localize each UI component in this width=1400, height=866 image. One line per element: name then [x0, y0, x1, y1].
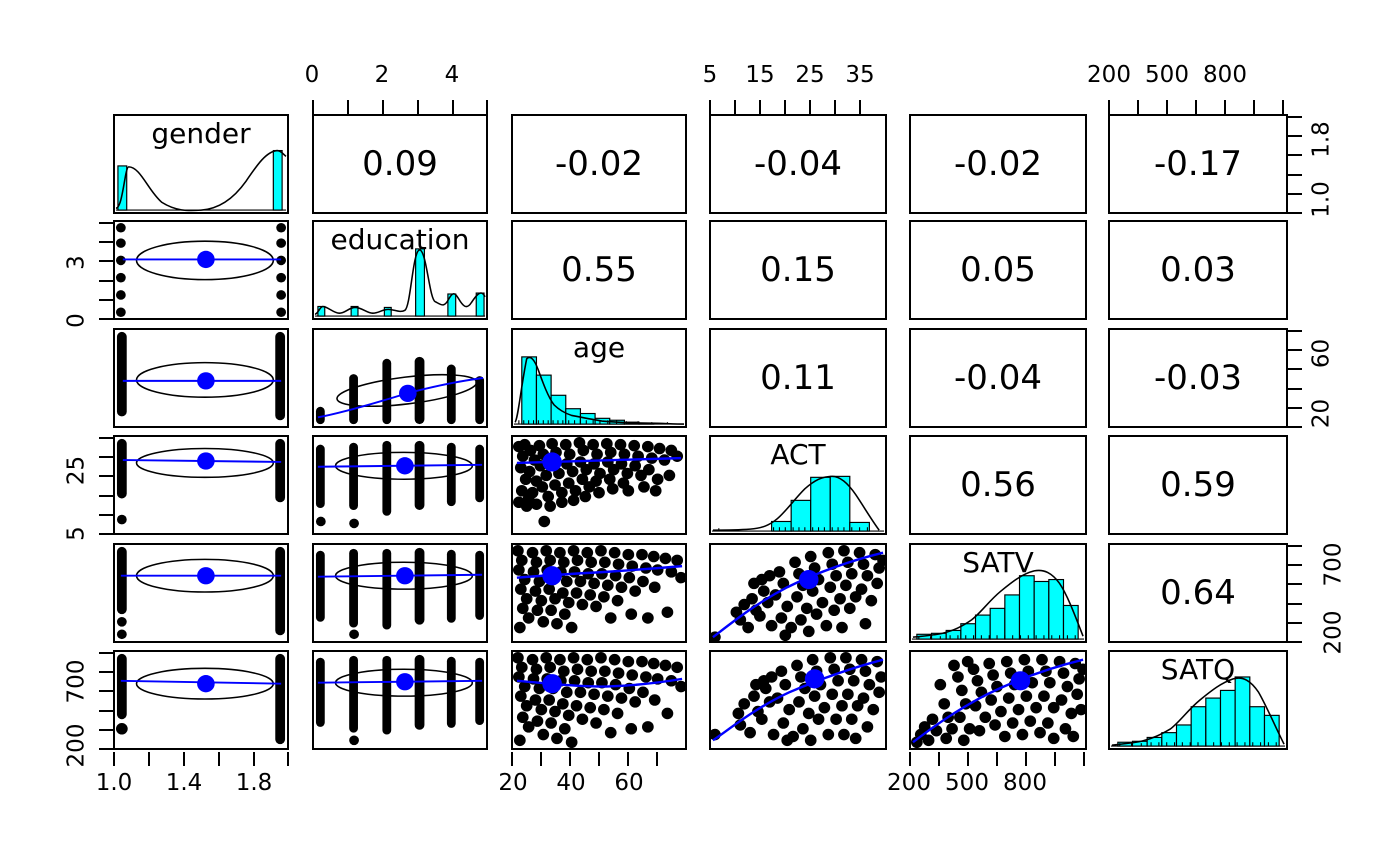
tick-label: 700	[66, 646, 89, 718]
age-education-scatter	[314, 330, 486, 426]
tick-label: 700	[1323, 529, 1346, 601]
tick-label: 35	[845, 64, 875, 87]
correlation-panel-education-satq: 0.03	[1108, 220, 1288, 320]
correlation-value: -0.03	[1154, 361, 1242, 395]
correlation-value: 0.64	[1160, 576, 1236, 610]
tick-label: 60	[609, 772, 649, 795]
satv-distribution-plot	[911, 545, 1085, 641]
left-axis-education: 3 0	[85, 222, 113, 320]
tick-label: 25	[66, 447, 89, 495]
correlation-panel-gender-age: -0.02	[511, 114, 687, 214]
correlation-value: 0.55	[561, 253, 637, 287]
scatter-panel-satv-vs-gender	[113, 543, 289, 643]
top-axis-act: 5 15 25 35	[709, 86, 887, 114]
tick-label: 5	[66, 510, 89, 558]
scatter-panel-age-vs-gender	[113, 328, 289, 428]
satq-satv-scatter	[911, 652, 1085, 748]
diagonal-panel-satq: SATQ	[1108, 650, 1288, 750]
tick-label: 800	[1000, 772, 1050, 795]
right-axis-age: 60 20	[1288, 330, 1316, 428]
satv-act-scatter	[711, 545, 885, 641]
correlation-panel-education-satv: 0.05	[909, 220, 1087, 320]
correlation-value: 0.59	[1160, 468, 1236, 502]
satq-distribution-plot	[1110, 652, 1286, 748]
correlation-value: -0.02	[954, 147, 1042, 181]
correlation-value: -0.04	[954, 361, 1042, 395]
correlation-value: -0.04	[754, 147, 842, 181]
scatter-panel-satv-vs-age	[511, 543, 687, 643]
diagonal-panel-gender: gender	[113, 114, 289, 214]
scatterplot-matrix: 0 2 4 5 15 25 35 200 500 800	[0, 0, 1400, 866]
correlation-panel-education-age: 0.55	[511, 220, 687, 320]
tick-label: 4	[437, 64, 467, 87]
scatter-panel-satq-vs-satv	[909, 650, 1087, 750]
scatter-panel-satv-vs-education	[312, 543, 488, 643]
bottom-axis-gender: 1.0 1.4 1.8	[113, 752, 289, 782]
tick-label: 200	[1323, 597, 1346, 669]
right-axis-satv: 700 200	[1288, 545, 1316, 643]
correlation-value: -0.02	[555, 147, 643, 181]
correlation-panel-age-act: 0.11	[709, 328, 887, 428]
diagonal-panel-education: education	[312, 220, 488, 320]
top-axis-education: 0 2 4	[312, 86, 488, 114]
scatter-panel-satq-vs-gender	[113, 650, 289, 750]
scatter-panel-satq-vs-education	[312, 650, 488, 750]
tick-label: 0	[297, 64, 327, 87]
correlation-value: 0.03	[1160, 253, 1236, 287]
act-gender-scatter	[115, 437, 287, 533]
bottom-axis-age: 20 40 60	[511, 752, 687, 782]
satv-education-scatter	[314, 545, 486, 641]
correlation-panel-gender-education: 0.09	[312, 114, 488, 214]
tick-label: 200	[884, 772, 934, 795]
scatter-panel-satv-vs-act	[709, 543, 887, 643]
correlation-panel-act-satq: 0.59	[1108, 435, 1288, 535]
satq-education-scatter	[314, 652, 486, 748]
correlation-value: 0.09	[362, 147, 438, 181]
correlation-panel-age-satv: -0.04	[909, 328, 1087, 428]
tick-label: 15	[745, 64, 775, 87]
tick-label: 500	[1142, 64, 1192, 87]
education-distribution-plot	[314, 222, 486, 318]
scatter-panel-age-vs-education	[312, 328, 488, 428]
correlation-value: 0.15	[760, 253, 836, 287]
tick-label: 1.8	[229, 772, 279, 795]
tick-label: 0	[66, 299, 89, 343]
gender-distribution-plot	[115, 116, 287, 212]
tick-label: 1.4	[159, 772, 209, 795]
tick-label: 1.0	[89, 772, 139, 795]
scatter-panel-education-vs-gender	[113, 220, 289, 320]
top-axis-satq: 200 500 800	[1108, 86, 1288, 114]
diagonal-panel-act: ACT	[709, 435, 887, 535]
act-age-scatter	[513, 437, 685, 533]
tick-label: 40	[551, 772, 591, 795]
correlation-panel-satv-satq: 0.64	[1108, 543, 1288, 643]
tick-label: 1.8	[1311, 116, 1334, 164]
left-axis-act: 25 5	[85, 437, 113, 535]
tick-label: 5	[695, 64, 725, 87]
tick-label: 20	[493, 772, 533, 795]
tick-label: 1.0	[1311, 176, 1334, 224]
scatter-panel-satq-vs-act	[709, 650, 887, 750]
correlation-panel-gender-satv: -0.02	[909, 114, 1087, 214]
satv-gender-scatter	[115, 545, 287, 641]
left-axis-satq: 700 200	[85, 652, 113, 750]
tick-label: 25	[795, 64, 825, 87]
right-axis-gender: 1.8 1.0	[1288, 116, 1316, 214]
tick-label: 2	[367, 64, 397, 87]
scatter-panel-act-vs-education	[312, 435, 488, 535]
tick-label: 3	[66, 241, 89, 285]
correlation-value: 0.11	[760, 361, 836, 395]
correlation-panel-gender-act: -0.04	[709, 114, 887, 214]
correlation-panel-gender-satq: -0.17	[1108, 114, 1288, 214]
age-gender-scatter	[115, 330, 287, 426]
satv-age-scatter	[513, 545, 685, 641]
act-distribution-plot	[711, 437, 885, 533]
correlation-panel-age-satq: -0.03	[1108, 328, 1288, 428]
tick-label: 20	[1311, 390, 1334, 438]
act-education-scatter	[314, 437, 486, 533]
tick-label: 500	[942, 772, 992, 795]
correlation-panel-act-satv: 0.56	[909, 435, 1087, 535]
diagonal-panel-age: age	[511, 328, 687, 428]
scatter-panel-satq-vs-age	[511, 650, 687, 750]
scatter-panel-act-vs-age	[511, 435, 687, 535]
satq-age-scatter	[513, 652, 685, 748]
correlation-panel-education-act: 0.15	[709, 220, 887, 320]
tick-label: 200	[1084, 64, 1134, 87]
tick-label: 800	[1200, 64, 1250, 87]
age-distribution-plot	[513, 330, 685, 426]
bottom-axis-satv: 200 500 800	[909, 752, 1087, 782]
education-gender-scatter	[115, 222, 287, 318]
correlation-value: 0.05	[960, 253, 1036, 287]
tick-label: 60	[1311, 330, 1334, 378]
satq-act-scatter	[711, 652, 885, 748]
scatter-panel-act-vs-gender	[113, 435, 289, 535]
diagonal-panel-satv: SATV	[909, 543, 1087, 643]
tick-label: 200	[66, 710, 89, 782]
satq-gender-scatter	[115, 652, 287, 748]
correlation-value: 0.56	[960, 468, 1036, 502]
correlation-value: -0.17	[1154, 147, 1242, 181]
